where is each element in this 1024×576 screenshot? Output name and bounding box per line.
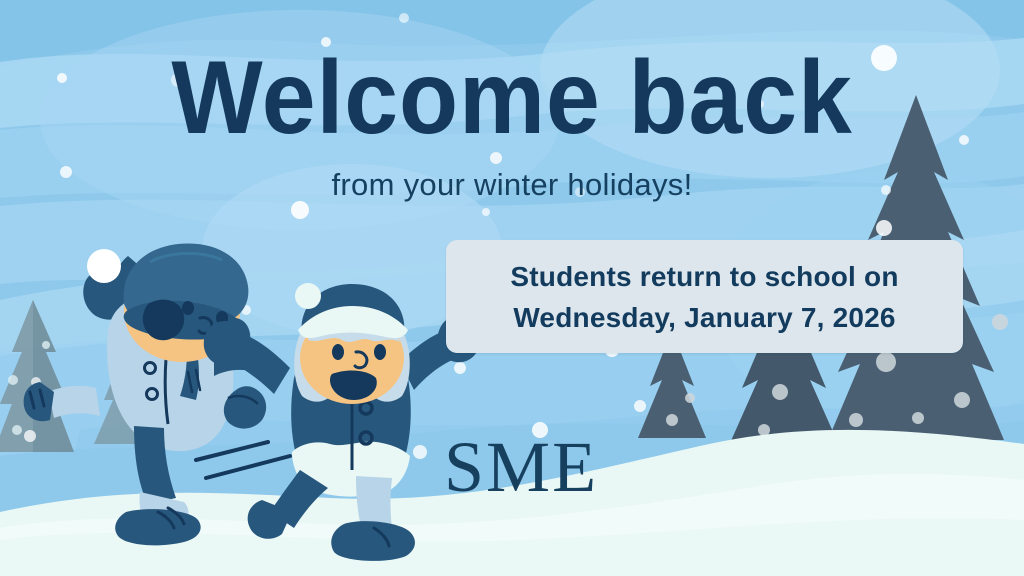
announcement-line-1: Students return to school on	[510, 256, 898, 297]
boot-front	[115, 509, 200, 545]
eye-left	[182, 301, 194, 315]
school-logo-sme: SME	[444, 431, 598, 503]
page-subtitle: from your winter holidays!	[0, 168, 1024, 202]
eye-left-2	[332, 344, 344, 360]
page-title: Welcome back	[36, 46, 988, 150]
announcement-box: Students return to school on Wednesday, …	[446, 240, 963, 353]
announcement-line-2: Wednesday, January 7, 2026	[513, 297, 895, 338]
eye-right-2	[374, 344, 386, 360]
pom-pom	[295, 283, 321, 309]
poster-canvas: Welcome back from your winter holidays! …	[0, 0, 1024, 576]
mitten-left-2	[204, 321, 249, 366]
snowball	[87, 249, 121, 283]
